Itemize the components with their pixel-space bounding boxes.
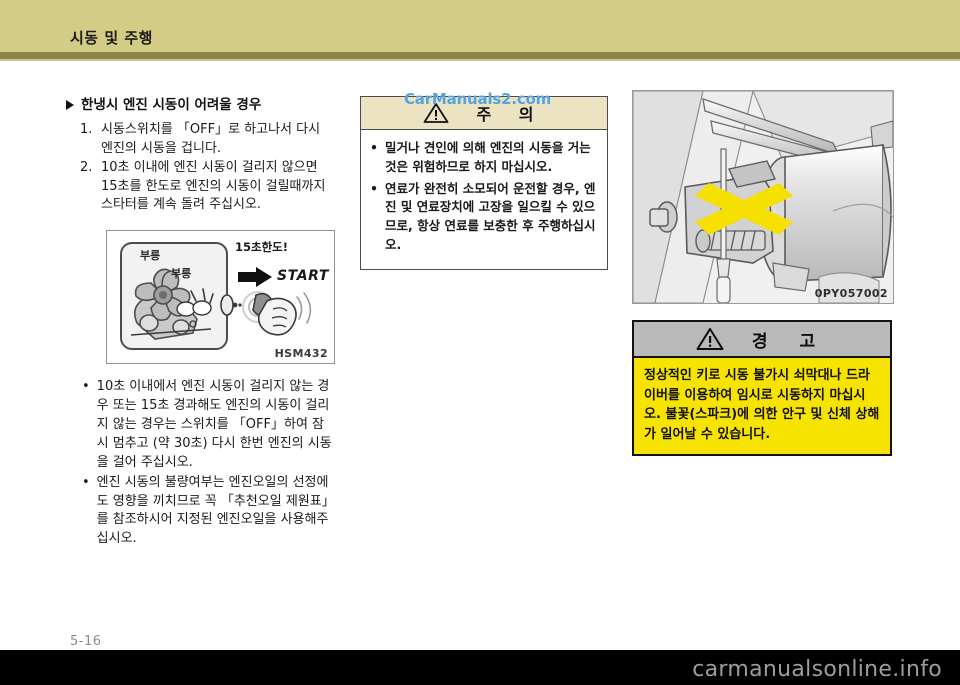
- section-heading: 한냉시 엔진 시동이 어려울 경우: [66, 96, 334, 114]
- step-ordinal: 2.: [80, 159, 96, 214]
- page-number: 5-16: [70, 634, 102, 649]
- section-heading-label: 한냉시 엔진 시동이 어려울 경우: [81, 96, 261, 114]
- caution-text: 밀거나 견인에 의해 엔진의 시동을 거는 것은 위험하므로 하지 마십시오.: [385, 139, 598, 177]
- bullet-text: 엔진 시동의 불량여부는 엔진오일의 선정에도 영향을 끼치므로 꼭 「추천오일…: [97, 474, 334, 549]
- list-item: • 밀거나 견인에 의해 엔진의 시동을 거는 것은 위험하므로 하지 마십시오…: [370, 139, 598, 177]
- starter-motor-illustration: 0PY057002: [632, 90, 894, 304]
- caution-text: 연료가 완전히 소모되어 운전할 경우, 엔진 및 연료장치에 고장을 일으킬 …: [385, 180, 598, 255]
- list-item: • 엔진 시동의 불량여부는 엔진오일의 선정에도 영향을 끼치므로 꼭 「추천…: [82, 474, 334, 549]
- warning-header: 경 고: [634, 322, 890, 358]
- figure-code: 0PY057002: [815, 287, 888, 300]
- list-item: 2. 10초 이내에 엔진 시동이 걸리지 않으면 15초를 한도로 엔진의 시…: [80, 159, 334, 214]
- start-arrow-icon: [238, 267, 272, 287]
- left-column: 한냉시 엔진 시동이 어려울 경우 1. 시동스위치를 「OFF」로 하고나서 …: [66, 96, 334, 550]
- bullet-glyph: •: [370, 139, 378, 177]
- list-item: 1. 시동스위치를 「OFF」로 하고나서 다시 엔진의 시동을 겁니다.: [80, 121, 334, 158]
- start-label: START: [277, 268, 329, 284]
- figure-code: HSM432: [275, 347, 328, 360]
- caution-bullet-list: • 밀거나 견인에 의해 엔진의 시동을 거는 것은 위험하므로 하지 마십시오…: [370, 139, 598, 255]
- page-header-rule-light: [0, 59, 960, 61]
- step-text: 시동스위치를 「OFF」로 하고나서 다시 엔진의 시동을 겁니다.: [101, 121, 334, 158]
- cold-start-illustration: 부릉 부릉 15초한도! START HSM432: [106, 230, 335, 364]
- page-header-rule: [0, 52, 960, 59]
- bullet-glyph: •: [82, 378, 90, 472]
- step-text: 10초 이내에 엔진 시동이 걸리지 않으면 15초를 한도로 엔진의 시동이 …: [101, 159, 334, 214]
- left-bullet-list: • 10초 이내에서 엔진 시동이 걸리지 않는 경우 또는 15초 경과해도 …: [66, 378, 334, 549]
- caution-body: • 밀거나 견인에 의해 엔진의 시동을 거는 것은 위험하므로 하지 마십시오…: [361, 130, 607, 269]
- warning-triangle-icon: [696, 327, 724, 351]
- caution-box: 주 의 • 밀거나 견인에 의해 엔진의 시동을 거는 것은 위험하므로 하지 …: [360, 96, 608, 270]
- warning-text: 정상적인 키로 시동 불가시 쇠막대나 드라이버를 이용하여 임시로 시동하지 …: [634, 358, 890, 454]
- vroom-label-1: 부릉: [140, 247, 160, 263]
- bullet-text: 10초 이내에서 엔진 시동이 걸리지 않는 경우 또는 15초 경과해도 엔진…: [97, 378, 334, 472]
- prohibition-x-icon: [695, 183, 793, 235]
- warning-title: 경 고: [739, 327, 828, 352]
- numbered-step-list: 1. 시동스위치를 「OFF」로 하고나서 다시 엔진의 시동을 겁니다. 2.…: [66, 121, 334, 214]
- page-title: 시동 및 주행: [70, 27, 153, 48]
- list-item: • 연료가 완전히 소모되어 운전할 경우, 엔진 및 연료장치에 고장을 일으…: [370, 180, 598, 255]
- step-ordinal: 1.: [80, 121, 96, 158]
- vroom-label-2: 부릉: [171, 265, 191, 281]
- triangle-bullet-icon: [66, 100, 74, 110]
- bullet-glyph: •: [370, 180, 378, 255]
- middle-column: 주 의 • 밀거나 견인에 의해 엔진의 시동을 거는 것은 위험하므로 하지 …: [360, 96, 610, 270]
- footer-watermark: carmanualsonline.info: [692, 657, 942, 682]
- warning-box: 경 고 정상적인 키로 시동 불가시 쇠막대나 드라이버를 이용하여 임시로 시…: [632, 320, 892, 456]
- time-limit-label: 15초한도!: [235, 239, 288, 255]
- right-column: 0PY057002 경 고 정상적인 키로 시동 불가시 쇠막대나 드라이버를 …: [632, 90, 894, 456]
- bullet-glyph: •: [82, 474, 90, 549]
- list-item: • 10초 이내에서 엔진 시동이 걸리지 않는 경우 또는 15초 경과해도 …: [82, 378, 334, 472]
- overlay-watermark: CarManuals2.com: [404, 90, 551, 108]
